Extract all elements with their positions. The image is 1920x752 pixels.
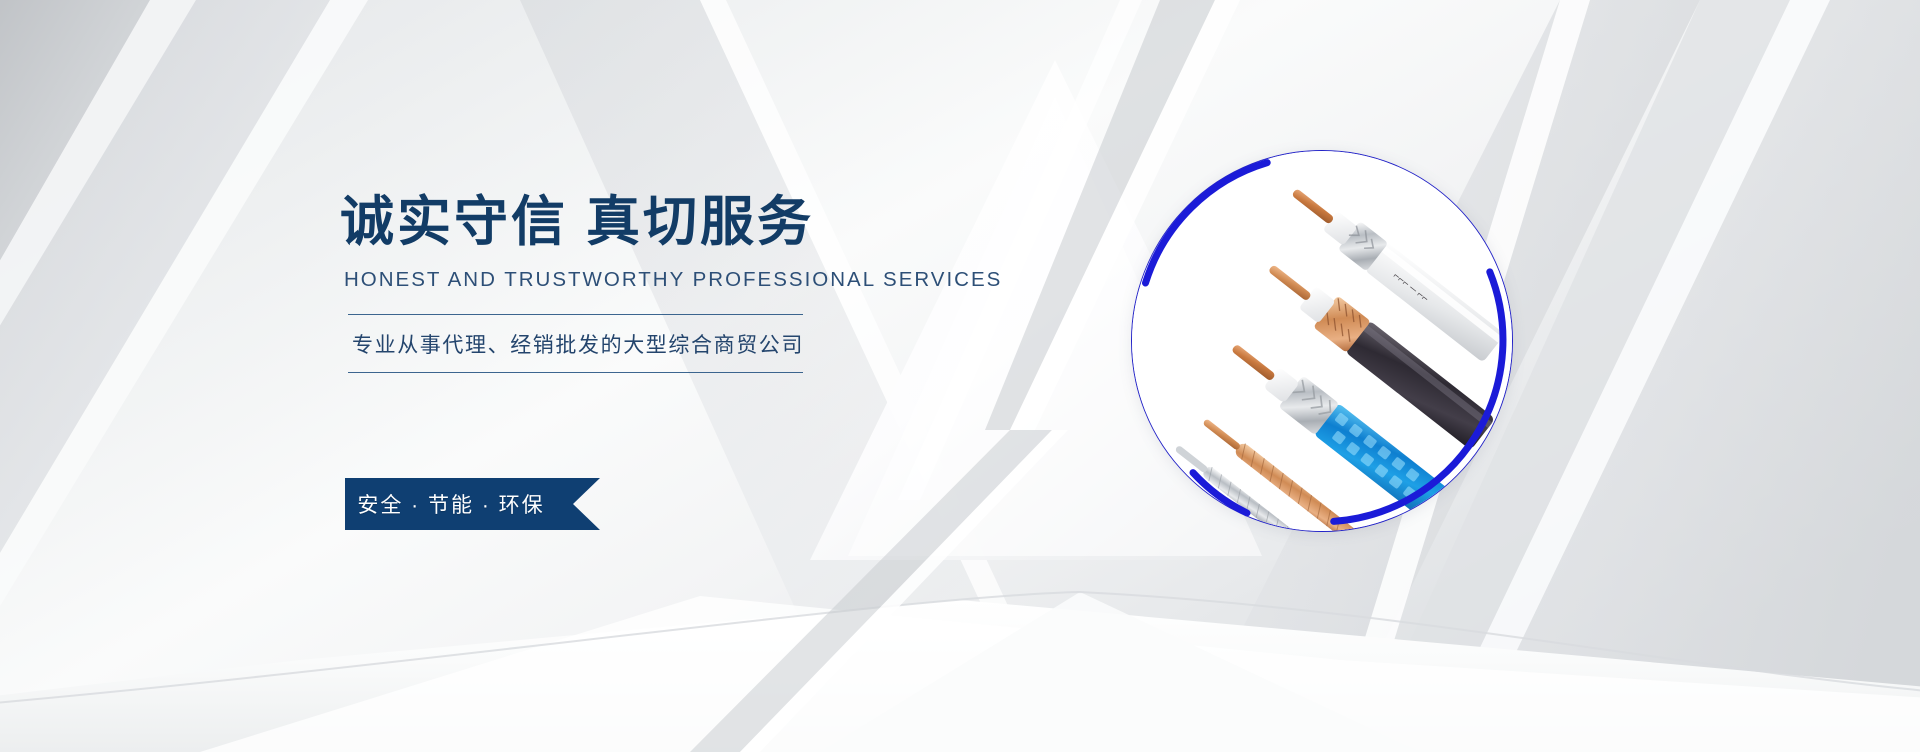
tagline-text: 专业从事代理、经销批发的大型综合商贸公司: [340, 315, 960, 372]
page-subtitle: HONEST AND TRUSTWORTHY PROFESSIONAL SERV…: [344, 268, 960, 292]
hero-text-block: 诚实守信 真切服务 HONEST AND TRUSTWORTHY PROFESS…: [340, 192, 960, 373]
hero-banner: 诚实守信 真切服务 HONEST AND TRUSTWORTHY PROFESS…: [0, 0, 1920, 752]
features-ribbon[interactable]: 安全 · 节能 · 环保: [345, 478, 600, 530]
product-medallion: ⌐⌐⌐ ─ ⌐⌐: [1131, 150, 1511, 530]
ring-arcs-svg: [1097, 116, 1545, 564]
divider-bottom: [348, 372, 803, 373]
background-geometry: [0, 0, 1920, 752]
page-title: 诚实守信 真切服务: [340, 192, 960, 252]
decorative-blue-ring: [1097, 116, 1545, 564]
background-shapes-svg: [0, 0, 1920, 752]
ribbon-label: 安全 · 节能 · 环保: [345, 478, 557, 530]
divider-top: [348, 314, 803, 315]
